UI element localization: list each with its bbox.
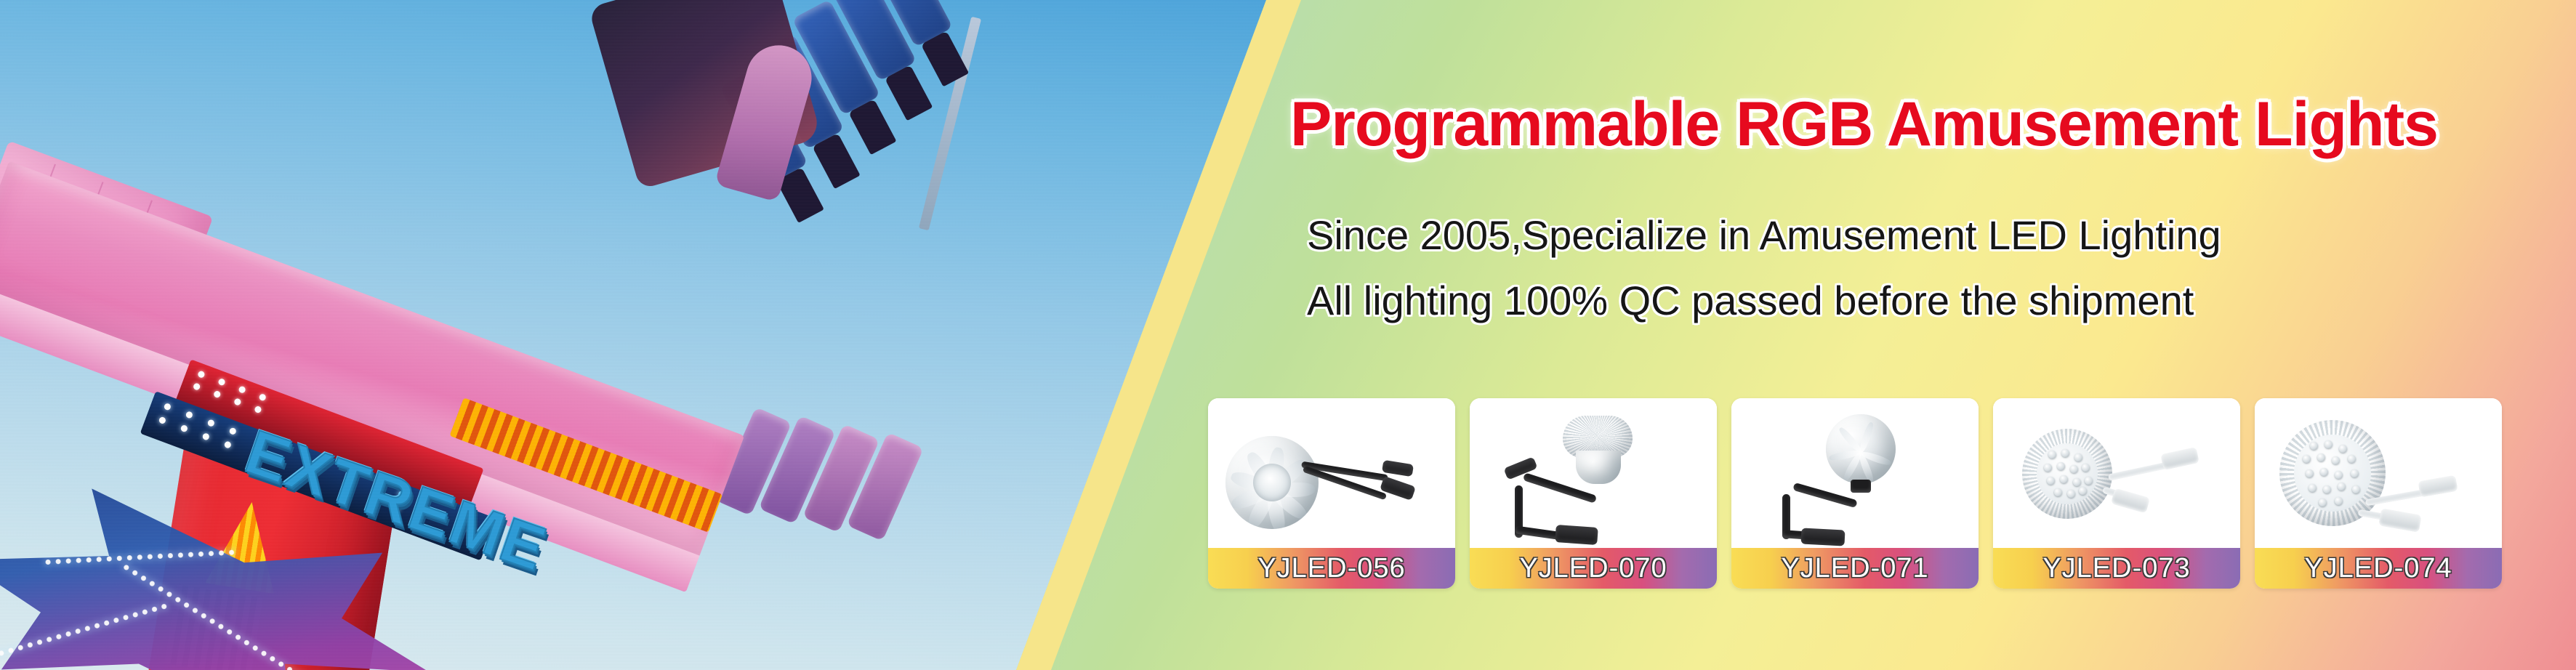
led-dot-array: [2294, 435, 2371, 512]
product-code-label: YJLED-074: [2255, 548, 2502, 589]
cable-loop: [1792, 483, 1858, 508]
ball-led-icon: [1826, 414, 1896, 484]
product-code-label: YJLED-073: [1993, 548, 2240, 589]
product-card[interactable]: YJLED-074: [2255, 398, 2502, 589]
product-image-yjled-073: [1993, 398, 2240, 548]
ball-neck: [1851, 480, 1871, 493]
subtitle-line-2: All lighting 100% QC passed before the s…: [1307, 280, 2194, 321]
product-card[interactable]: YJLED-073: [1993, 398, 2240, 589]
subtitle-line-1: Since 2005,Specialize in Amusement LED L…: [1307, 215, 2221, 256]
clear-connector-upper: [2418, 475, 2458, 498]
clear-connector-lower: [2111, 488, 2150, 514]
led-dot-array: [2037, 443, 2098, 504]
product-code-label: YJLED-071: [1731, 548, 1979, 589]
clear-connector-upper: [2160, 447, 2199, 470]
product-card[interactable]: YJLED-071: [1731, 398, 1979, 589]
product-code-label: YJLED-056: [1208, 548, 1455, 589]
connector-bottom: [1555, 525, 1598, 545]
clear-cable-upper: [2108, 461, 2169, 480]
led-base-icon: [1576, 451, 1621, 484]
product-image-yjled-071: [1731, 398, 1979, 548]
page-title: Programmable RGB Amusement Lights: [1290, 93, 2438, 156]
product-image-yjled-074: [2255, 398, 2502, 548]
product-image-yjled-056: [1208, 398, 1455, 548]
product-card[interactable]: YJLED-056: [1208, 398, 1455, 589]
product-code-label: YJLED-070: [1470, 548, 1717, 589]
product-card-list: YJLED-056 YJLED-070: [1208, 398, 2502, 589]
connector-mid: [1800, 528, 1845, 546]
swirl-dome-led-icon: [1225, 436, 1319, 529]
clear-connector-lower: [2378, 508, 2421, 532]
product-card[interactable]: YJLED-070: [1470, 398, 1717, 589]
product-image-yjled-070: [1470, 398, 1717, 548]
promo-banner: EXTREME Programmable RGB Amusement Light…: [0, 0, 2576, 670]
